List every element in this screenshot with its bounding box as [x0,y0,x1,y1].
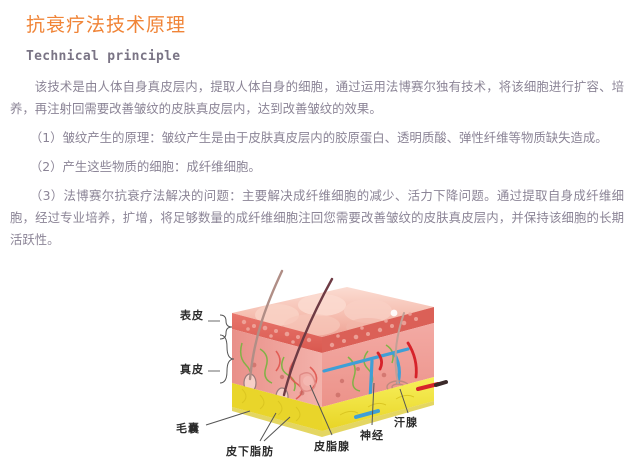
figure-label-sweat-gland: 汗腺 [394,414,418,430]
paragraph-intro: 该技术是由人体自身真皮层内，提取人体自身的细胞，通过运用法博赛尔独有技术，将该细… [8,76,626,120]
figure-label-hair-follicle: 毛囊 [176,420,200,436]
figure-label-subcutaneous-fat: 皮下脂肪 [226,443,274,459]
figure-label-epidermis: 表皮 [180,307,204,323]
paragraph-item-1: （1）皱纹产生的原理：皱纹产生是由于皮肤真皮层内的胶原蛋白、透明质酸、弹性纤维等… [8,127,626,149]
paragraph-item-3: （3）法博赛尔抗衰疗法解决的问题：主要解决成纤维细胞的减少、活力下降问题。通过提… [8,185,626,251]
figure-label-dermis: 真皮 [180,361,204,377]
skin-cross-section-diagram: 表皮 真皮 毛囊 皮下脂肪 皮脂腺 神经 汗腺 [172,265,462,461]
paragraph-item-2: （2）产生这些物质的细胞：成纤维细胞。 [8,156,626,178]
skin-diagram-svg [172,265,462,461]
figure-label-sebaceous-gland: 皮脂腺 [314,438,350,454]
figure-label-nerve: 神经 [360,427,384,443]
page-title: 抗衰疗法技术原理 [0,0,634,38]
page-subtitle: Technical principle [0,38,634,66]
document-page: 抗衰疗法技术原理 Technical principle 该技术是由人体自身真皮… [0,0,634,449]
article-body: 该技术是由人体自身真皮层内，提取人体自身的细胞，通过运用法博赛尔独有技术，将该细… [0,66,634,251]
